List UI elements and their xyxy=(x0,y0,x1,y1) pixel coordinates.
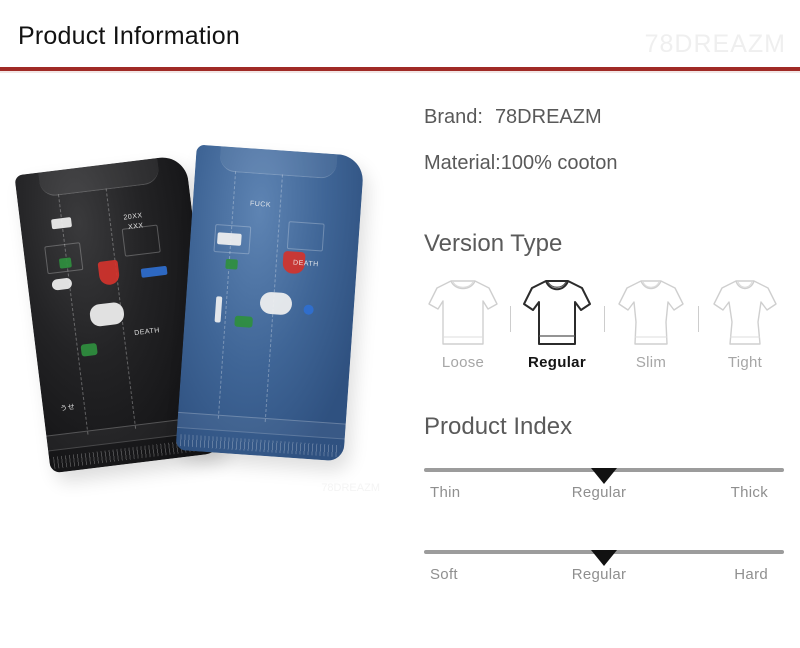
thickness-label-right: Thick xyxy=(655,484,786,501)
jacket-collar xyxy=(219,138,339,179)
material-label: Material: xyxy=(424,152,501,174)
tshirt-tight-icon xyxy=(698,272,792,354)
product-information-page: Product Information 78DREAZM 20XX xyxy=(0,0,800,648)
thickness-label-center: Regular xyxy=(543,484,656,501)
hardness-slider-labels: Soft Regular Hard xyxy=(416,566,792,583)
version-type-options: Loose Regular xyxy=(416,272,792,390)
jacket-scribble-text: 20XX xyxy=(123,212,143,221)
thickness-slider-labels: Thin Regular Thick xyxy=(416,484,792,501)
jacket-collar xyxy=(37,150,161,197)
header-divider-shadow xyxy=(0,71,800,73)
hardness-label-right: Hard xyxy=(655,566,786,583)
thickness-slider[interactable]: Thin Regular Thick xyxy=(416,468,792,501)
jacket-pocket xyxy=(287,221,325,251)
product-index-heading: Product Index xyxy=(424,413,572,441)
hardness-label-left: Soft xyxy=(422,566,543,583)
jacket-seam xyxy=(58,194,88,434)
product-photo: 20XX XXX DEATH うせ DE xyxy=(14,122,386,514)
hardness-slider-track[interactable] xyxy=(424,550,784,554)
version-option-tight[interactable]: Tight xyxy=(698,272,792,371)
blue-graffiti-denim-jacket: DEATH FUCK xyxy=(176,145,365,462)
jacket-doodle xyxy=(259,291,292,315)
jacket-doodle xyxy=(215,296,223,322)
jacket-scribble-text: うせ xyxy=(60,402,76,414)
version-label-regular: Regular xyxy=(510,354,604,371)
material-value: 100% cooton xyxy=(501,152,618,174)
tshirt-loose-icon xyxy=(416,272,510,354)
jacket-doodle xyxy=(140,266,167,278)
brand-value: 78DREAZM xyxy=(495,106,602,128)
jacket-scribble-text: FUCK xyxy=(250,200,271,208)
page-header: Product Information 78DREAZM xyxy=(0,0,800,72)
jacket-doodle xyxy=(225,259,238,270)
jacket-scribble-text: DEATH xyxy=(134,327,160,337)
thickness-slider-marker[interactable] xyxy=(591,468,617,484)
jacket-doodle xyxy=(51,217,72,229)
jacket-seam xyxy=(218,171,236,418)
brand-label: Brand: xyxy=(424,106,483,128)
version-label-slim: Slim xyxy=(604,354,698,371)
jacket-doodle xyxy=(89,301,125,327)
jacket-doodle xyxy=(235,316,254,328)
brand-watermark: 78DREAZM xyxy=(645,30,786,59)
jacket-doodle xyxy=(217,232,242,246)
thickness-label-left: Thin xyxy=(422,484,543,501)
hardness-slider[interactable]: Soft Regular Hard xyxy=(416,550,792,583)
version-label-loose: Loose xyxy=(416,354,510,371)
version-option-slim[interactable]: Slim xyxy=(604,272,698,371)
version-option-loose[interactable]: Loose xyxy=(416,272,510,371)
page-title: Product Information xyxy=(18,22,240,51)
jacket-doodle xyxy=(303,304,314,315)
hardness-slider-marker[interactable] xyxy=(591,550,617,566)
product-info-pane: Brand:78DREAZM Material:100% cooton Vers… xyxy=(408,80,800,620)
jacket-doodle xyxy=(80,343,97,357)
tshirt-slim-icon xyxy=(604,272,698,354)
hardness-label-center: Regular xyxy=(543,566,656,583)
version-option-regular[interactable]: Regular xyxy=(510,272,604,371)
version-type-heading: Version Type xyxy=(424,230,562,258)
version-label-tight: Tight xyxy=(698,354,792,371)
thickness-slider-track[interactable] xyxy=(424,468,784,472)
brand-row: Brand:78DREAZM xyxy=(424,106,602,129)
jacket-doodle xyxy=(59,257,72,268)
tshirt-regular-icon xyxy=(510,272,604,354)
product-photo-pane: 20XX XXX DEATH うせ DE xyxy=(0,80,400,620)
photo-watermark: 78DREAZM xyxy=(321,482,380,494)
material-row: Material:100% cooton xyxy=(424,152,617,175)
